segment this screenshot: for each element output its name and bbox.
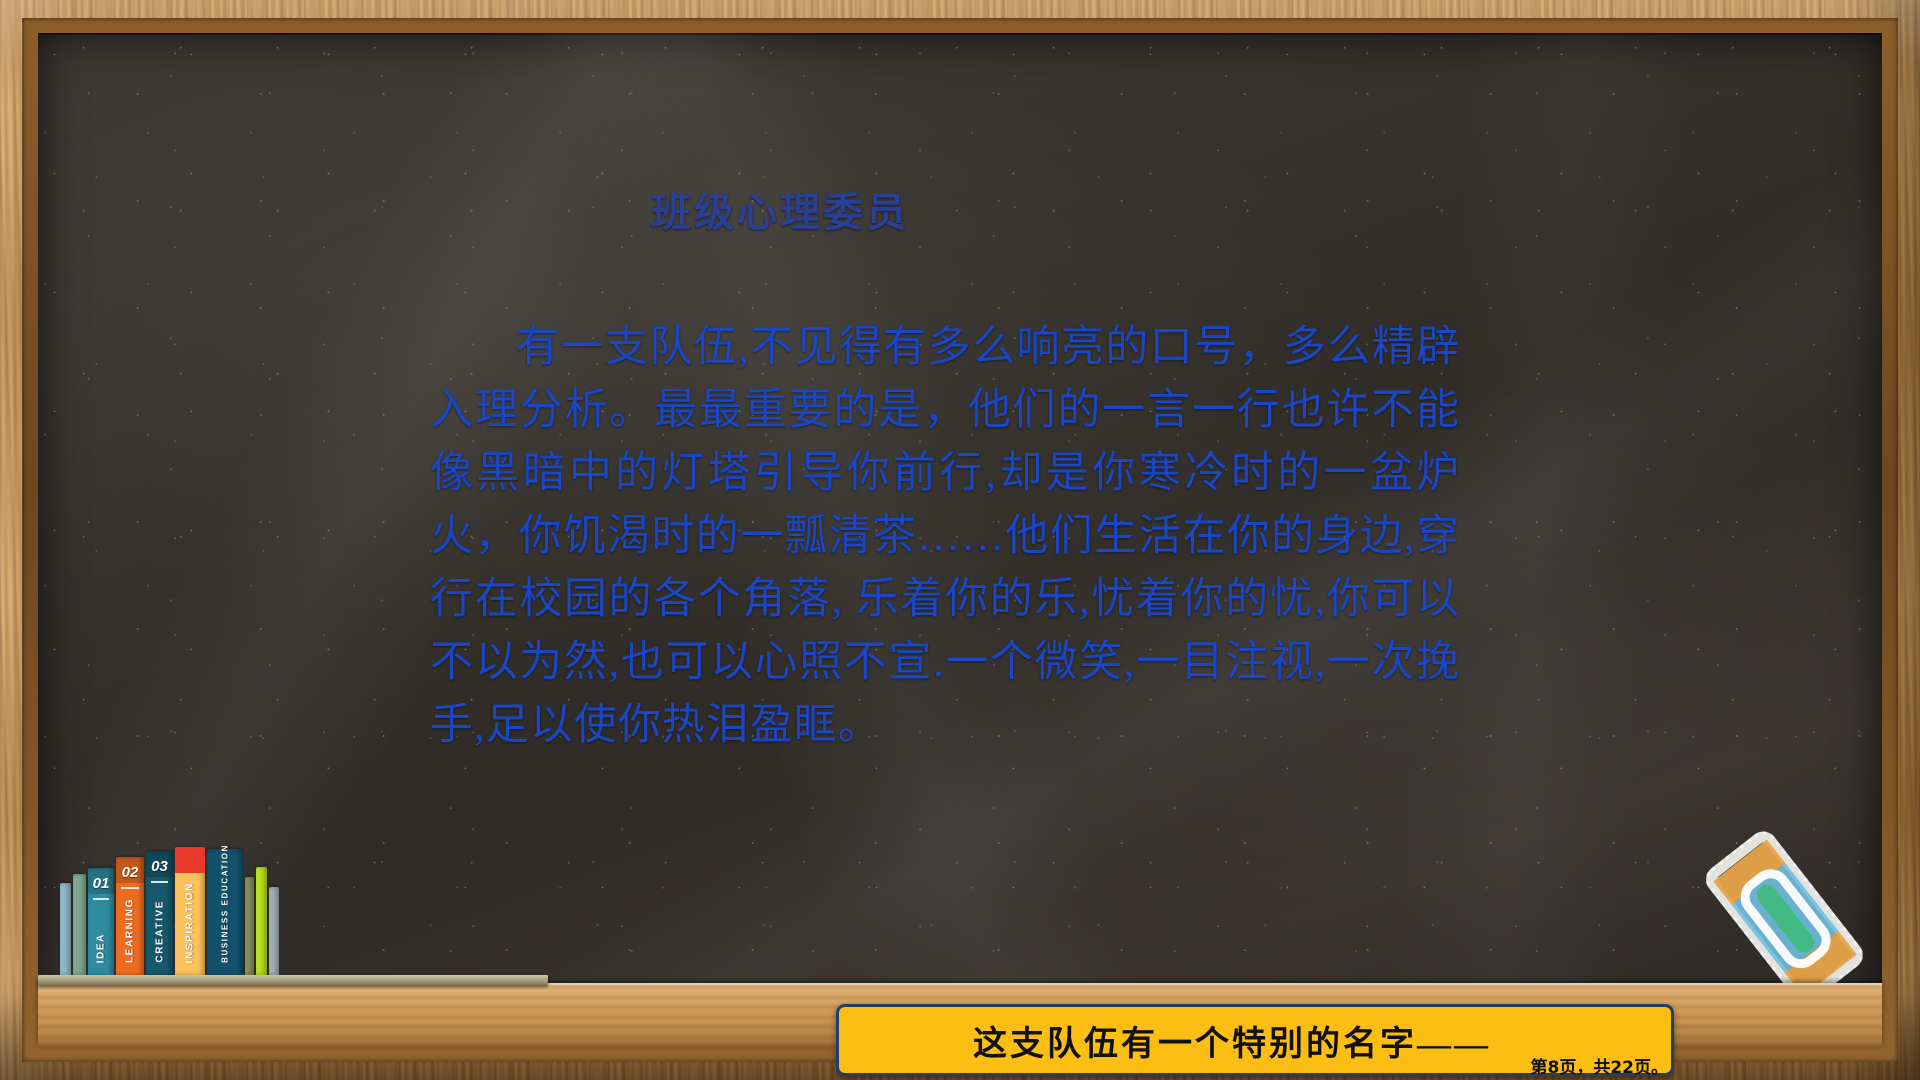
book-spine: INSPIRATION (175, 847, 205, 975)
book-number: 03 (146, 858, 173, 875)
ledge-lip (38, 975, 548, 985)
book-label: IDEA (96, 933, 107, 963)
book-spine (245, 877, 254, 975)
book-label: CREATIVE (154, 900, 165, 963)
book-number: 01 (88, 875, 114, 892)
caption-text: 这支队伍有一个特别的名字—— (973, 1016, 1491, 1065)
body-paragraph: 有一支队伍,不见得有多么响亮的口号，多么精辟入理分析。最最重要的是，他们的一言一… (430, 316, 1460, 757)
page-title: 班级心理委员 (0, 180, 1740, 238)
book-spine (269, 887, 279, 975)
book-rule (93, 898, 109, 900)
book-spine: BUSINESS EDUCATION (207, 849, 243, 975)
book-spine: 01IDEA (88, 868, 114, 975)
book-rule (121, 887, 139, 889)
book-spine: 03CREATIVE (146, 851, 173, 975)
book-spine (73, 874, 86, 975)
slide-root: 班级心理委员 有一支队伍,不见得有多么响亮的口号，多么精辟入理分析。最最重要的是… (0, 0, 1920, 1080)
book-number: 02 (116, 864, 144, 881)
book-spine (256, 867, 267, 975)
book-rule (151, 881, 168, 883)
page-indicator: 第8页，共22页。 (1531, 1053, 1669, 1078)
book-spine: 02LEARNING (116, 857, 144, 975)
book-spine (60, 883, 71, 975)
book-label: LEARNING (125, 898, 136, 963)
book-cap (175, 847, 205, 873)
book-label: INSPIRATION (185, 882, 196, 963)
book-label: BUSINESS EDUCATION (221, 844, 230, 963)
book-stack-decoration: 01IDEA02LEARNING03CREATIVEINSPIRATIONBUS… (60, 847, 279, 975)
